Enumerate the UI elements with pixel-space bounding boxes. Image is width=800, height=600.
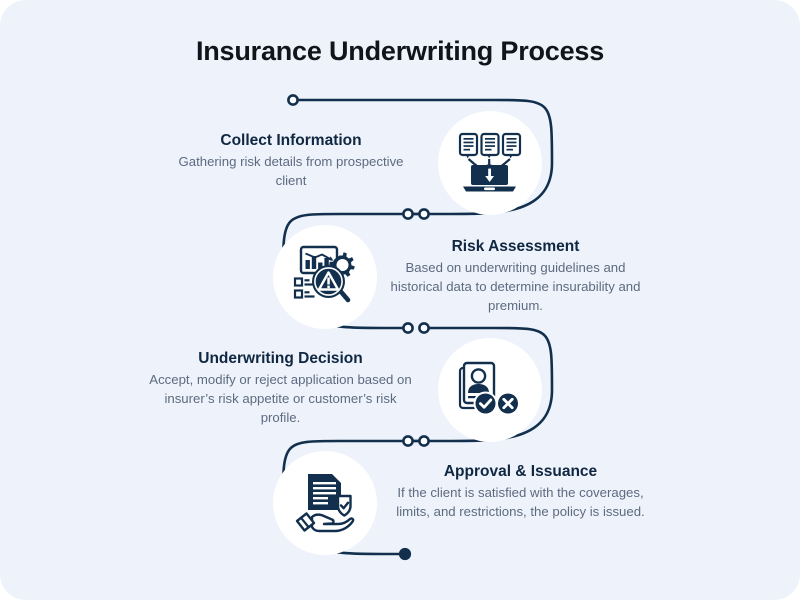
documents-to-laptop-download-icon: [457, 132, 523, 194]
step-1-description: Gathering risk details from prospective …: [166, 153, 416, 190]
step-2-text: Risk Assessment Based on underwriting gu…: [383, 237, 648, 316]
node-dot-3a: [403, 436, 412, 445]
step-4-title: Approval & Issuance: [388, 462, 653, 481]
node-dot-2a: [403, 323, 412, 332]
node-dot-1a: [403, 209, 412, 218]
node-dot-1b: [419, 209, 428, 218]
node-dot-3b: [419, 436, 428, 445]
step-2-title: Risk Assessment: [383, 237, 648, 256]
hand-document-shield-icon: [294, 473, 356, 533]
step-2-icon-circle: [273, 225, 377, 329]
step-4-description: If the client is satisfied with the cove…: [388, 484, 653, 521]
node-dot-start: [288, 95, 297, 104]
node-dot-2b: [419, 323, 428, 332]
step-3-title: Underwriting Decision: [148, 349, 413, 368]
infographic-canvas: Insurance Underwriting Process: [0, 0, 800, 600]
step-2-description: Based on underwriting guidelines and his…: [383, 259, 648, 315]
step-1-text: Collect Information Gathering risk detai…: [166, 131, 416, 191]
node-dot-end: [400, 549, 410, 559]
step-4-text: Approval & Issuance If the client is sat…: [388, 462, 653, 522]
step-3-description: Accept, modify or reject application bas…: [148, 371, 413, 427]
step-1-icon-circle: [438, 111, 542, 215]
step-3-text: Underwriting Decision Accept, modify or …: [148, 349, 413, 428]
step-1-title: Collect Information: [166, 131, 416, 150]
infographic-panel: Insurance Underwriting Process: [0, 0, 800, 600]
id-card-approve-reject-icon: [458, 361, 522, 419]
chart-magnifier-warning-icon: [292, 245, 358, 309]
step-4-icon-circle: [273, 451, 377, 555]
step-3-icon-circle: [438, 338, 542, 442]
